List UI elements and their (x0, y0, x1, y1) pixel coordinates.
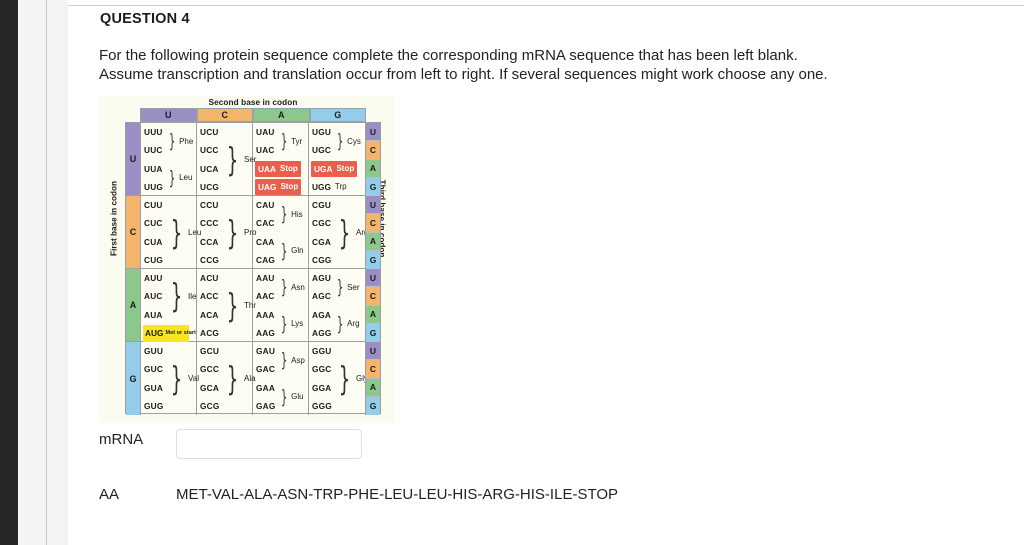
codon-text: UAU (256, 127, 275, 137)
amino-acid-group-Pro: }Pro (222, 196, 256, 269)
codon-UCU: UCU (200, 123, 219, 141)
codon-GGC: GGC (312, 360, 332, 378)
third-base-column: UCAG (365, 196, 380, 268)
rail-divider (46, 0, 47, 545)
first-base-label-U: U (126, 123, 141, 195)
codon-text: GAC (256, 364, 275, 374)
codon-text: UGC (312, 145, 331, 155)
codon-UGA-stop: UGAStop (311, 161, 357, 177)
top-divider (68, 5, 1024, 6)
codon-text: UUA (144, 164, 163, 174)
codon-AAA: AAA (256, 306, 275, 324)
amino-acid-group-Ser: }Ser (334, 269, 360, 306)
codon-UCA: UCA (200, 160, 219, 178)
codon-CUG: CUG (144, 251, 163, 269)
codon-cell-UC: UCUUCCUCAUCG}Ser (197, 123, 253, 195)
codon-block-U: UUUUUUCUUAUUG}Phe}LeuUCUUCCUCAUCG}SerUAU… (126, 123, 380, 196)
codon-GUA: GUA (144, 379, 163, 397)
codon-cell-CU: CUUCUCCUACUG}Leu (141, 196, 197, 268)
amino-acid-name: Stop (280, 182, 298, 191)
screen-root: QUESTION 4 For the following protein seq… (0, 0, 1024, 545)
question-prompt: For the following protein sequence compl… (99, 46, 1004, 84)
codon-text: GUG (144, 401, 164, 411)
codon-text: UGA (314, 164, 332, 174)
codon-text: CGU (312, 200, 331, 210)
codon-text: GUC (144, 364, 163, 374)
amino-acid-group-Ala: }Ala (222, 342, 256, 415)
third-base-label-A: A (366, 379, 380, 397)
third-base-label-U: U (366, 196, 380, 214)
codon-text: AAU (256, 273, 275, 283)
third-base-label-A: A (366, 160, 380, 178)
codon-text: CAC (256, 218, 275, 228)
codon-CUA: CUA (144, 233, 163, 251)
mrna-label: mRNA (99, 431, 143, 448)
codon-columns: AUUAUCAUAAUGMet or start}IleACUACCACAACG… (141, 269, 365, 341)
amino-acid-group-Asn: }Asn (278, 269, 305, 306)
codon-CGG: CGG (312, 251, 332, 269)
codon-CAC: CAC (256, 214, 275, 232)
third-base-label-C: C (366, 141, 380, 159)
codon-ACG: ACG (200, 324, 219, 342)
amino-acid-name: Leu (179, 173, 192, 182)
amino-acid-name: Ser (347, 283, 359, 292)
codon-text: GAG (256, 401, 276, 411)
codon-text: AAA (256, 310, 275, 320)
third-base-column: UCAG (365, 342, 380, 415)
codon-CCA: CCA (200, 233, 219, 251)
second-base-header-row: UCAG (140, 108, 366, 122)
second-base-header-U: U (140, 108, 197, 122)
codon-UCC: UCC (200, 141, 219, 159)
codon-text: AUG (145, 328, 163, 338)
codon-text: UUU (144, 127, 163, 137)
codon-AGG: AGG (312, 324, 332, 342)
codon-text: GGC (312, 364, 332, 374)
codon-AUG-start: AUGMet or start (143, 325, 189, 342)
amino-acid-group-Lys: }Lys (278, 306, 303, 343)
codon-text: ACC (200, 291, 219, 301)
figure-caption-second-base: Second base in codon (133, 98, 373, 107)
codon-columns: UUUUUCUUAUUG}Phe}LeuUCUUCCUCAUCG}SerUAUU… (141, 123, 365, 195)
codon-text: CAG (256, 255, 275, 265)
question-prompt-line-1: For the following protein sequence compl… (99, 46, 1004, 65)
codon-CGC: CGC (312, 214, 331, 232)
codon-text: GGA (312, 383, 332, 393)
codon-CAU: CAU (256, 196, 275, 214)
amino-acid-group-Leu: }Leu (166, 160, 192, 197)
third-base-label-G: G (366, 397, 380, 415)
codon-cell-CG: CGUCGCCGACGG}Arg (309, 196, 365, 268)
codon-GCC: GCC (200, 360, 219, 378)
amino-acid-group-Gln: }Gln (278, 233, 304, 270)
codon-text: GUA (144, 383, 163, 393)
codon-text: CGA (312, 237, 331, 247)
aa-label: AA (99, 486, 119, 503)
codon-text: CCU (200, 200, 219, 210)
amino-acid-name: Trp (335, 182, 347, 191)
codon-text: UAC (256, 145, 275, 155)
codon-cell-AC: ACUACCACAACG}Thr (197, 269, 253, 341)
codon-UGC: UGC (312, 141, 331, 159)
second-base-header-G: G (310, 108, 367, 122)
codon-CAA: CAA (256, 233, 275, 251)
amino-acid-group-Val: }Val (166, 342, 199, 415)
codon-cell-GG: GGUGGCGGAGGG}Gly (309, 342, 365, 415)
codon-CUU: CUU (144, 196, 163, 214)
amino-acid-group-Arg: }Arg (334, 196, 368, 269)
amino-acid-group-Arg: }Arg (334, 306, 360, 343)
codon-cell-CA: CAUCACCAACAG}His}Gln (253, 196, 309, 268)
codon-GAG: GAG (256, 397, 276, 415)
amino-acid-name: Phe (179, 137, 193, 146)
codon-text: CUA (144, 237, 163, 247)
third-base-label-U: U (366, 123, 380, 141)
codon-cell-AG: AGUAGCAGAAGG}Ser}Arg (309, 269, 365, 341)
codon-CCC: CCC (200, 214, 219, 232)
codon-AAU: AAU (256, 269, 275, 287)
codon-GUG: GUG (144, 397, 164, 415)
question-prompt-line-2: Assume transcription and translation occ… (99, 65, 1004, 84)
codon-text: GGG (312, 401, 332, 411)
codon-GGA: GGA (312, 379, 332, 397)
codon-columns: CUUCUCCUACUG}LeuCCUCCCCCACCG}ProCAUCACCA… (141, 196, 365, 268)
second-base-header-A: A (253, 108, 310, 122)
codon-AGU: AGU (312, 269, 331, 287)
codon-text: GCG (200, 401, 220, 411)
codon-text: UAA (258, 164, 276, 174)
amino-acid-name: Met or start (165, 330, 187, 336)
codon-text: CUC (144, 218, 163, 228)
third-base-column: UCAG (365, 269, 380, 341)
amino-acid-name: Asn (291, 283, 305, 292)
codon-AGA: AGA (312, 306, 331, 324)
codon-CCG: CCG (200, 251, 219, 269)
left-gray-rail (18, 0, 68, 545)
codon-CGU: CGU (312, 196, 331, 214)
codon-text: CCG (200, 255, 219, 265)
codon-text: AUU (144, 273, 163, 283)
codon-GUU: GUU (144, 342, 163, 360)
third-base-label-G: G (366, 178, 380, 196)
codon-text: UUG (144, 182, 163, 192)
codon-AUC: AUC (144, 287, 163, 305)
amino-acid-name: Lys (291, 319, 303, 328)
codon-text: AGU (312, 273, 331, 283)
codon-ACA: ACA (200, 306, 219, 324)
codon-GGG: GGG (312, 397, 332, 415)
codon-CUC: CUC (144, 214, 163, 232)
amino-acid-group-Thr: }Thr (222, 269, 256, 342)
codon-text: UUC (144, 145, 163, 155)
codon-cell-AA: AAUAACAAAAAG}Asn}Lys (253, 269, 309, 341)
codon-cell-UA: UAUUACUAAStopUAGStop}Tyr (253, 123, 309, 195)
codon-text: UCG (200, 182, 219, 192)
codon-text: CAA (256, 237, 275, 247)
codon-text: UCA (200, 164, 219, 174)
codon-GAU: GAU (256, 342, 275, 360)
codon-CCU: CCU (200, 196, 219, 214)
amino-acid-name: Asp (291, 356, 305, 365)
amino-acid-group-His: }His (278, 196, 303, 233)
amino-acid-name: Ile (188, 292, 196, 301)
codon-UGU: UGU (312, 123, 331, 141)
codon-text: ACG (200, 328, 219, 338)
amino-acid-name: His (291, 210, 303, 219)
codon-UUA: UUA (144, 160, 163, 178)
codon-columns: GUUGUCGUAGUG}ValGCUGCCGCAGCG}AlaGAUGACGA… (141, 342, 365, 415)
first-base-label-C: C (126, 196, 141, 268)
codon-text: GUU (144, 346, 163, 356)
second-base-header-C: C (197, 108, 254, 122)
codon-CAG: CAG (256, 251, 275, 269)
codon-text: UCU (200, 127, 219, 137)
codon-text: AGG (312, 328, 332, 338)
codon-text: CUG (144, 255, 163, 265)
codon-UAG-stop: UAGStop (255, 179, 301, 195)
codon-block-A: AAUUAUCAUAAUGMet or start}IleACUACCACAAC… (126, 269, 380, 342)
codon-text: AGC (312, 291, 331, 301)
codon-grid: UUUUUUCUUAUUG}Phe}LeuUCUUCCUCAUCG}SerUAU… (125, 122, 381, 414)
codon-ACU: ACU (200, 269, 219, 287)
codon-ACC: ACC (200, 287, 219, 305)
amino-acid-name: Tyr (291, 137, 302, 146)
codon-text: CCA (200, 237, 219, 247)
amino-acid-name: Arg (347, 319, 359, 328)
question-content-pane: QUESTION 4 For the following protein seq… (68, 0, 1024, 545)
codon-UGG: UGGTrp (312, 179, 347, 195)
codon-text: AAC (256, 291, 275, 301)
amino-acid-group-Gly: }Gly (334, 342, 368, 415)
codon-text: UGG (312, 182, 331, 192)
third-base-label-C: C (366, 287, 380, 305)
codon-text: AGA (312, 310, 331, 320)
codon-text: AUC (144, 291, 163, 301)
aa-sequence: MET-VAL-ALA-ASN-TRP-PHE-LEU-LEU-HIS-ARG-… (176, 486, 618, 503)
amino-acid-name: Glu (291, 392, 303, 401)
genetic-code-table-figure: Second base in codon First base in codon… (99, 96, 395, 423)
amino-acid-name: Cys (347, 137, 361, 146)
amino-acid-name: Stop (280, 164, 298, 173)
third-base-label-C: C (366, 214, 380, 232)
codon-UCG: UCG (200, 178, 219, 196)
amino-acid-group-Ile: }Ile (166, 269, 196, 324)
codon-GCG: GCG (200, 397, 220, 415)
amino-acid-group-Cys: }Cys (334, 123, 361, 160)
third-base-column: UCAG (365, 123, 380, 195)
codon-cell-GU: GUUGUCGUAGUG}Val (141, 342, 197, 415)
codon-UAC: UAC (256, 141, 275, 159)
amino-acid-group-Phe: }Phe (166, 123, 193, 160)
codon-text: GGU (312, 346, 332, 356)
codon-AAC: AAC (256, 287, 275, 305)
third-base-label-U: U (366, 342, 380, 360)
third-base-label-U: U (366, 269, 380, 287)
codon-text: ACU (200, 273, 219, 283)
codon-UUC: UUC (144, 141, 163, 159)
third-base-label-C: C (366, 360, 380, 378)
codon-cell-CC: CCUCCCCCACCG}Pro (197, 196, 253, 268)
amino-acid-group-Ser: }Ser (222, 123, 256, 196)
first-base-label-A: A (126, 269, 141, 341)
codon-text: UGU (312, 127, 331, 137)
codon-text: AUA (144, 310, 163, 320)
codon-CGA: CGA (312, 233, 331, 251)
codon-text: CAU (256, 200, 275, 210)
codon-UUU: UUU (144, 123, 163, 141)
third-base-label-G: G (366, 251, 380, 269)
codon-text: GCA (200, 383, 219, 393)
codon-text: GCC (200, 364, 219, 374)
codon-UUG: UUG (144, 178, 163, 196)
amino-acid-name: Stop (336, 164, 354, 173)
amino-acid-group-Asp: }Asp (278, 342, 305, 379)
left-dark-rail (0, 0, 18, 545)
third-base-label-A: A (366, 233, 380, 251)
codon-GAC: GAC (256, 360, 275, 378)
mrna-input[interactable] (176, 429, 362, 459)
amino-acid-name: Gln (291, 246, 303, 255)
codon-text: GCU (200, 346, 219, 356)
codon-text: GAA (256, 383, 275, 393)
codon-text: GAU (256, 346, 275, 356)
codon-text: CUU (144, 200, 163, 210)
codon-GAA: GAA (256, 379, 275, 397)
third-base-label-G: G (366, 324, 380, 342)
codon-GCU: GCU (200, 342, 219, 360)
codon-GCA: GCA (200, 379, 219, 397)
amino-acid-group-Glu: }Glu (278, 379, 304, 416)
figure-caption-first-base: First base in codon (110, 164, 119, 274)
codon-AAG: AAG (256, 324, 275, 342)
codon-text: CCC (200, 218, 219, 228)
codon-block-G: GGUUGUCGUAGUG}ValGCUGCCGCAGCG}AlaGAUGACG… (126, 342, 380, 415)
codon-text: UAG (258, 182, 276, 192)
codon-UAA-stop: UAAStop (255, 161, 301, 177)
codon-cell-GC: GCUGCCGCAGCG}Ala (197, 342, 253, 415)
amino-acid-group-Tyr: }Tyr (278, 123, 302, 160)
codon-text: AAG (256, 328, 275, 338)
codon-GUC: GUC (144, 360, 163, 378)
codon-text: ACA (200, 310, 219, 320)
codon-cell-UU: UUUUUCUUAUUG}Phe}Leu (141, 123, 197, 195)
codon-text: CGC (312, 218, 331, 228)
first-base-label-G: G (126, 342, 141, 415)
third-base-label-A: A (366, 306, 380, 324)
codon-UAU: UAU (256, 123, 275, 141)
codon-cell-GA: GAUGACGAAGAG}Asp}Glu (253, 342, 309, 415)
codon-AUU: AUU (144, 269, 163, 287)
codon-text: UCC (200, 145, 219, 155)
codon-AUA: AUA (144, 306, 163, 324)
question-heading: QUESTION 4 (100, 11, 190, 27)
codon-text: CGG (312, 255, 332, 265)
codon-GGU: GGU (312, 342, 332, 360)
codon-cell-UG: UGUUGCUGAStopUGGTrp}Cys (309, 123, 365, 195)
codon-cell-AU: AUUAUCAUAAUGMet or start}Ile (141, 269, 197, 341)
codon-block-C: CCUUCUCCUACUG}LeuCCUCCCCCACCG}ProCAUCACC… (126, 196, 380, 269)
codon-AGC: AGC (312, 287, 331, 305)
